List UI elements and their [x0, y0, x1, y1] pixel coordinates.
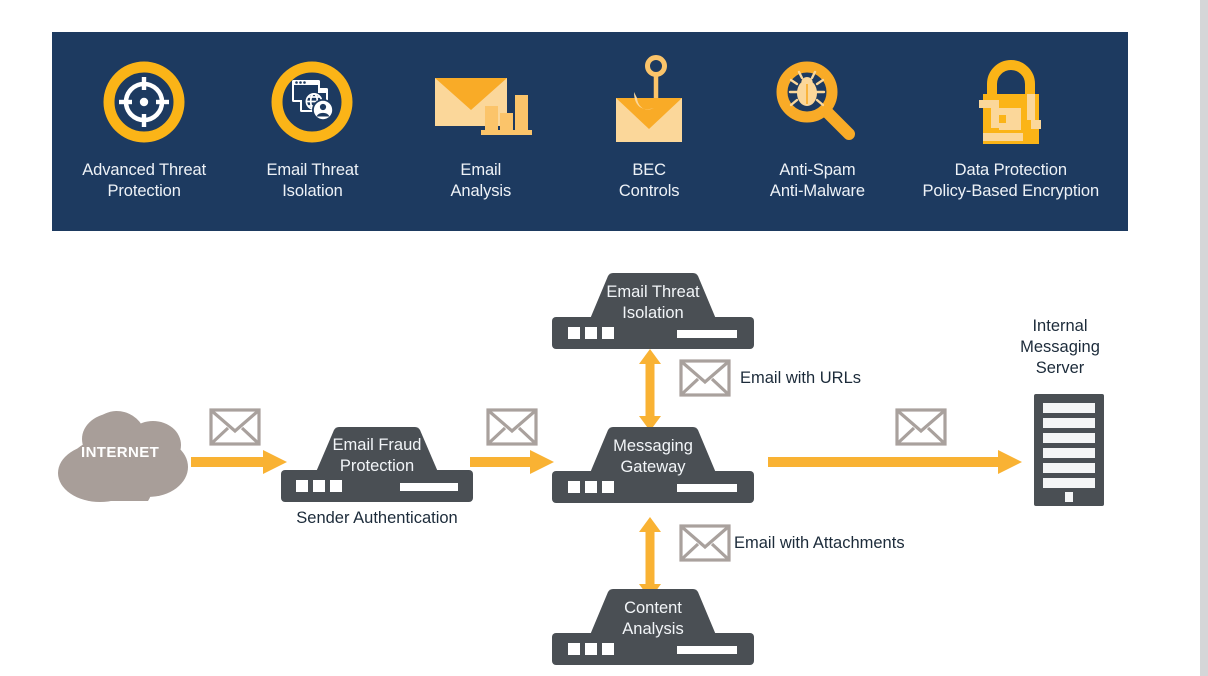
- flow-label-email-with-urls: Email with URLs: [740, 368, 861, 389]
- server-appliance-icon: [278, 424, 476, 514]
- capability-anti-spam-anti-malware[interactable]: Anti-Spam Anti-Malware: [737, 54, 897, 202]
- envelope-bar-chart-icon: [429, 54, 533, 150]
- envelope-icon-inbound: [209, 408, 261, 446]
- envelope-icon-outbound: [895, 408, 947, 446]
- padlock-circuit-icon: [969, 54, 1053, 150]
- diagram-page: Advanced Threat Protection: [0, 0, 1208, 676]
- envelope-icon-urls: [679, 359, 731, 397]
- capability-advanced-threat-protection[interactable]: Advanced Threat Protection: [64, 54, 224, 202]
- email-security-flow-diagram: Email Threat Isolation Email with URLs: [0, 231, 1208, 676]
- arrow-internet-to-efp: [191, 449, 287, 475]
- browser-windows-user-icon: [270, 54, 354, 150]
- target-crosshair-icon: [102, 54, 186, 150]
- caption-sender-authentication: Sender Authentication: [278, 508, 476, 529]
- capability-label: Data Protection Policy-Based Encryption: [923, 160, 1100, 202]
- envelope-icon-efp-to-gateway: [486, 408, 538, 446]
- server-appliance-icon: [549, 424, 757, 516]
- phishing-hook-envelope-icon: [604, 54, 694, 150]
- capability-banner: Advanced Threat Protection: [52, 32, 1128, 231]
- internet-cloud[interactable]: INTERNET: [56, 401, 196, 503]
- server-appliance-icon: [549, 586, 757, 676]
- capability-bec-controls[interactable]: BEC Controls: [569, 54, 729, 202]
- capability-label: Email Threat Isolation: [266, 160, 358, 202]
- capability-data-protection[interactable]: Data Protection Policy-Based Encryption: [906, 54, 1116, 202]
- envelope-icon-attachments: [679, 524, 731, 562]
- flow-label-email-with-attachments: Email with Attachments: [734, 533, 905, 554]
- right-edge-divider: [1200, 0, 1208, 676]
- node-email-fraud-protection[interactable]: Email Fraud Protection: [278, 424, 476, 514]
- arrow-efp-to-gateway: [470, 449, 554, 475]
- node-messaging-gateway[interactable]: Messaging Gateway: [549, 424, 757, 516]
- internal-messaging-server-icon[interactable]: [1034, 394, 1104, 506]
- capability-label: BEC Controls: [619, 160, 680, 202]
- caption-internal-messaging-server: Internal Messaging Server: [1000, 316, 1120, 379]
- arrow-gateway-to-internal-server: [768, 449, 1022, 475]
- cloud-label: INTERNET: [81, 444, 159, 461]
- capability-email-analysis[interactable]: Email Analysis: [401, 54, 561, 202]
- capability-email-threat-isolation[interactable]: Email Threat Isolation: [232, 54, 392, 202]
- capability-label: Email Analysis: [450, 160, 511, 202]
- node-content-analysis[interactable]: Content Analysis: [549, 586, 757, 676]
- capability-label: Advanced Threat Protection: [82, 160, 206, 202]
- magnifier-bug-icon: [771, 54, 863, 150]
- capability-label: Anti-Spam Anti-Malware: [770, 160, 865, 202]
- double-vertical-arrow-urls: [637, 349, 663, 431]
